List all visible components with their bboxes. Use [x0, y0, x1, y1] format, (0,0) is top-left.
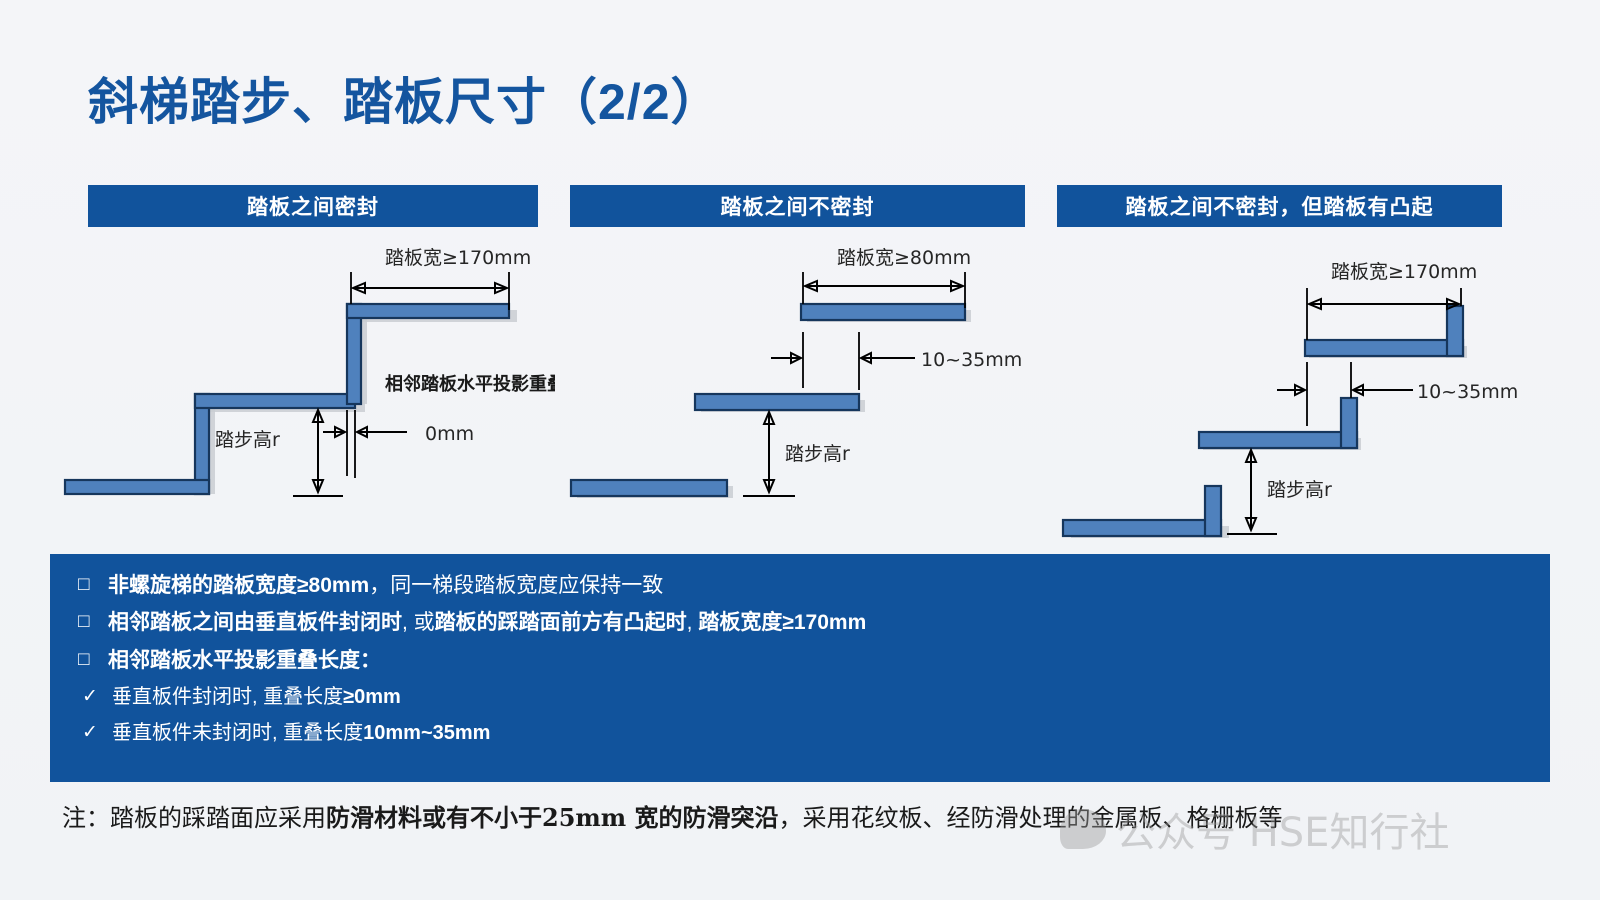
bullet-normal-text-2: ,	[687, 611, 699, 634]
label-overlap-title: 相邻踏板水平投影重叠长度	[385, 373, 555, 395]
column-header-unsealed: 踏板之间不密封	[570, 185, 1025, 227]
plate-middle-with-nosing	[1199, 398, 1357, 448]
plate-middle	[695, 394, 859, 410]
slide-canvas: 斜梯踏步、踏板尺寸（2/2） 踏板之间密封 踏板之间不密封 踏板之间不密封，但踏…	[0, 0, 1600, 900]
bullet-text: 非螺旋梯的踏板宽度≥80mm，同一梯段踏板宽度应保持一致	[108, 572, 663, 600]
diagram-unsealed-with-nosing: 踏板宽≥170mm 10~35mm 踏步高r	[1055, 238, 1555, 548]
label-overlap-value: 10~35mm	[921, 349, 1022, 371]
bullet-item: □ 非螺旋梯的踏板宽度≥80mm，同一梯段踏板宽度应保持一致	[78, 572, 1522, 600]
label-riser-height: 踏步高r	[1267, 479, 1332, 501]
bullet-item: □ 相邻踏板水平投影重叠长度：	[78, 647, 1522, 675]
check-item: ✓ 垂直板件封闭时, 重叠长度≥0mm	[82, 684, 1522, 711]
column-header-unsealed-nosing-label: 踏板之间不密封，但踏板有凸起	[1126, 191, 1434, 221]
label-tread-width: 踏板宽≥170mm	[1331, 261, 1477, 283]
plate-upper-with-nosing	[1305, 306, 1463, 356]
bullet-bold-text: 相邻踏板水平投影重叠长度：	[108, 649, 381, 672]
bullet-normal-text: ，同一梯段踏板宽度应保持一致	[369, 574, 663, 597]
bullet-text: 相邻踏板水平投影重叠长度：	[108, 647, 381, 675]
column-header-unsealed-label: 踏板之间不密封	[721, 191, 875, 221]
label-riser-height: 踏步高r	[785, 443, 850, 465]
square-bullet-icon: □	[78, 647, 108, 673]
dim-overlap	[323, 410, 407, 478]
diagram-sealed-treads: 踏板宽≥170mm 踏步高r 相邻踏板水平投影重叠长度 0mm	[55, 238, 555, 538]
check-text: 垂直板件封闭时, 重叠长度≥0mm	[112, 684, 401, 711]
check-bullet-icon: ✓	[82, 684, 112, 710]
footnote-part2: ，采用花纹板、经防滑处理的金属板、格栅板等	[779, 804, 1283, 832]
bullet-normal-text: , 或	[402, 611, 435, 634]
bullet-bold-text-2: 踏板的踩踏面前方有凸起时	[435, 611, 687, 634]
check-normal-text: 垂直板件封闭时, 重叠长度	[112, 686, 343, 708]
check-bold-text: 10mm~35mm	[363, 722, 490, 744]
bullet-bold-text: 相邻踏板之间由垂直板件封闭时	[108, 611, 402, 634]
bullet-bold-text-3: 踏板宽度≥170mm	[698, 611, 866, 634]
dim-overlap	[771, 332, 915, 390]
bullet-bold-text: 非螺旋梯的踏板宽度≥80mm	[108, 574, 369, 597]
bullet-text: 相邻踏板之间由垂直板件封闭时, 或踏板的踩踏面前方有凸起时, 踏板宽度≥170m…	[108, 609, 866, 637]
check-bullet-icon: ✓	[82, 720, 112, 746]
label-overlap-value: 0mm	[425, 423, 474, 445]
label-tread-width: 踏板宽≥170mm	[385, 247, 531, 269]
floor-plate	[65, 480, 209, 494]
check-normal-text: 垂直板件未封闭时, 重叠长度	[112, 722, 363, 744]
dim-tread-width	[1307, 288, 1461, 340]
column-header-sealed-label: 踏板之间密封	[247, 191, 379, 221]
page-title: 斜梯踏步、踏板尺寸（2/2）	[88, 62, 722, 134]
bullet-item: □ 相邻踏板之间由垂直板件封闭时, 或踏板的踩踏面前方有凸起时, 踏板宽度≥17…	[78, 609, 1522, 637]
label-overlap-value: 10~35mm	[1417, 381, 1518, 403]
check-text: 垂直板件未封闭时, 重叠长度10mm~35mm	[112, 720, 490, 747]
label-riser-height: 踏步高r	[215, 429, 280, 451]
square-bullet-icon: □	[78, 572, 108, 598]
plate-lower	[571, 480, 727, 496]
diagram-unsealed-treads: 踏板宽≥80mm 10~35mm 踏步高r	[565, 238, 1055, 538]
check-item: ✓ 垂直板件未封闭时, 重叠长度10mm~35mm	[82, 720, 1522, 747]
dim-tread-width	[803, 272, 965, 308]
column-header-sealed: 踏板之间密封	[88, 185, 538, 227]
footnote-part1: 注：踏板的踩踏面应采用	[62, 804, 326, 832]
dim-riser-height	[293, 410, 343, 496]
check-bold-text: ≥0mm	[343, 686, 401, 708]
label-tread-width: 踏板宽≥80mm	[837, 247, 971, 269]
plate-upper	[801, 304, 965, 320]
square-bullet-icon: □	[78, 609, 108, 635]
footnote: 注：踏板的踩踏面应采用防滑材料或有不小于25mm 宽的防滑突沿，采用花纹板、经防…	[62, 798, 1283, 833]
plate-lower-with-nosing	[1063, 486, 1221, 536]
requirements-panel: □ 非螺旋梯的踏板宽度≥80mm，同一梯段踏板宽度应保持一致 □ 相邻踏板之间由…	[50, 554, 1550, 782]
column-header-unsealed-nosing: 踏板之间不密封，但踏板有凸起	[1057, 185, 1502, 227]
footnote-bold: 防滑材料或有不小于25mm 宽的防滑突沿	[326, 803, 779, 832]
